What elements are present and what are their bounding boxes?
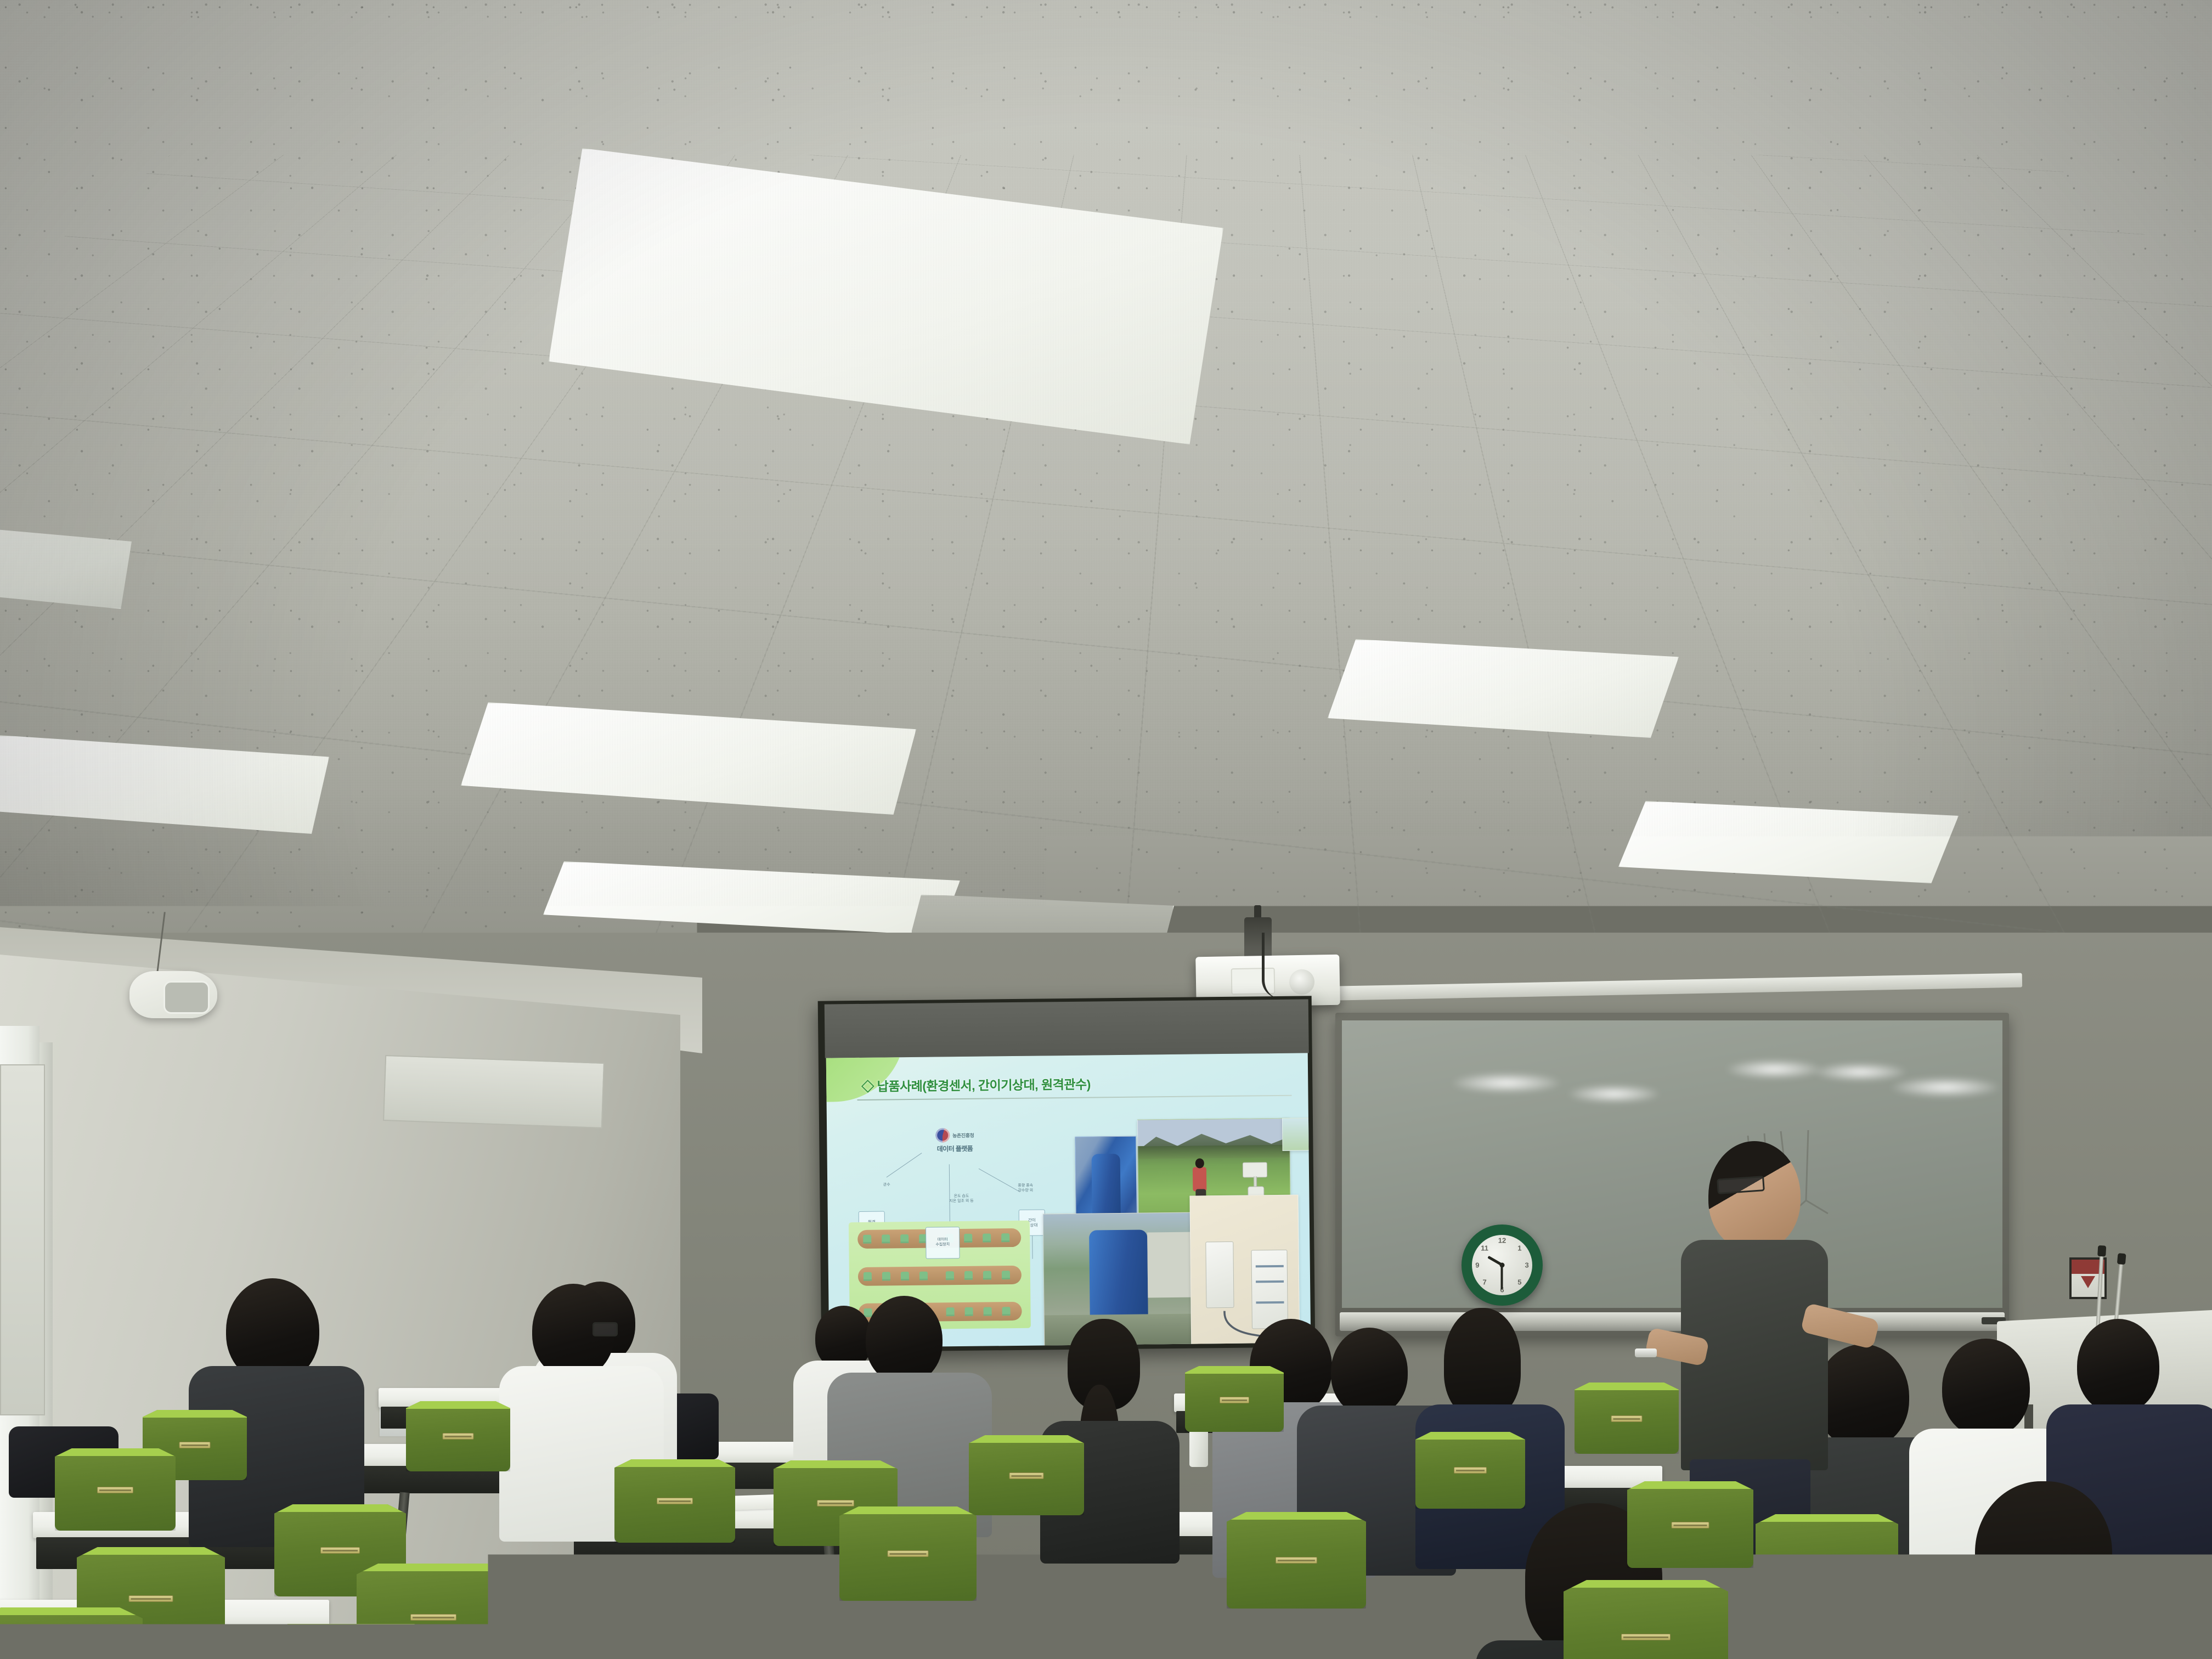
- chair-brand-label: [443, 1433, 474, 1440]
- chair-brand-label: [657, 1498, 693, 1504]
- chair-edge-trim: [55, 1448, 176, 1456]
- chair-brand-label: [129, 1595, 173, 1602]
- chair-edge-trim: [1627, 1481, 1753, 1489]
- diagram-label-center: 온도 습도지온 일조 외 등: [935, 1194, 988, 1204]
- diagram-box-collector: 데이터수집장치: [926, 1227, 960, 1259]
- chair-backrest: [406, 1401, 510, 1471]
- chair-backrest: [614, 1459, 735, 1543]
- chair-backrest: [839, 1506, 977, 1601]
- clock-numeral: 1: [1517, 1244, 1521, 1252]
- diagram-dropline-right: [1032, 1236, 1033, 1259]
- chair-edge-trim: [77, 1547, 225, 1555]
- chair-brand-label: [1805, 1560, 1848, 1567]
- chair-brand-label: [1009, 1472, 1044, 1479]
- clock-center-pin: [1500, 1263, 1505, 1268]
- diagram-label-right: 풍향 풍속강수량 외: [1008, 1183, 1042, 1193]
- chair-brand-label: [1220, 1397, 1249, 1403]
- glasses-icon: [1717, 1176, 1765, 1194]
- chair-edge-trim: [839, 1506, 977, 1514]
- head: [2077, 1319, 2159, 1413]
- chair-backrest: [0, 1607, 143, 1659]
- torso: [1920, 1613, 2178, 1659]
- chair-backrest: [1627, 1481, 1753, 1568]
- whiteboard-glare-5: [1891, 1077, 2000, 1097]
- whiteboard-surface: [1342, 1020, 2002, 1308]
- photo-enclosure-left: [1206, 1242, 1234, 1308]
- chair-brand-label: [1621, 1634, 1671, 1640]
- head: [866, 1296, 943, 1384]
- clock-numeral: 7: [1482, 1278, 1486, 1286]
- wall-clock: 12 1 3 5 6 7 9 11: [1462, 1224, 1543, 1306]
- chair[interactable]: [1415, 1432, 1525, 1509]
- chair[interactable]: [406, 1401, 510, 1471]
- logo-org-name: 농촌진흥청: [952, 1131, 974, 1138]
- chair-edge-trim: [1185, 1366, 1284, 1374]
- chair-brand-label: [97, 1487, 133, 1493]
- chair[interactable]: [614, 1459, 735, 1543]
- chair-edge-trim: [969, 1435, 1084, 1443]
- chair-edge-trim: [274, 1504, 406, 1512]
- chair-edge-trim: [614, 1459, 735, 1467]
- head: [1331, 1328, 1408, 1415]
- whiteboard: [1335, 1013, 2009, 1336]
- chair-backrest: [263, 1624, 439, 1659]
- chair-brand-label: [888, 1550, 929, 1557]
- clock-minute-hand: [1501, 1265, 1503, 1289]
- chair-brand-label: [179, 1442, 211, 1448]
- chair-backrest: [1415, 1432, 1525, 1509]
- photo-sensor-panel: [1243, 1162, 1267, 1177]
- chair-backrest: [1756, 1514, 1898, 1613]
- photo-mountains: [1138, 1131, 1289, 1150]
- whiteboard-tray: [1340, 1312, 2005, 1331]
- chair[interactable]: [969, 1435, 1084, 1515]
- window-blind-left: [0, 1064, 45, 1415]
- chair[interactable]: [642, 1567, 801, 1659]
- greenhouse-bed: [858, 1266, 1022, 1286]
- chair[interactable]: [0, 1607, 143, 1659]
- presenter-head: [1708, 1141, 1801, 1251]
- classroom-photo: 12 1 3 5 6 7 9 11 ◇ 납품사례(환경센서, 간이기상대, 원격…: [0, 0, 2212, 1659]
- chair-edge-trim: [357, 1564, 510, 1571]
- presentation-clicker: [1635, 1348, 1657, 1357]
- chair[interactable]: [1627, 1481, 1753, 1568]
- chair[interactable]: [1575, 1383, 1679, 1454]
- chair-edge-trim: [1756, 1514, 1898, 1522]
- chair-brand-label: [1672, 1522, 1709, 1528]
- photo-thumbnail-topright: [1282, 1118, 1311, 1151]
- clock-numeral: 5: [1517, 1278, 1521, 1286]
- wall-speaker: [129, 971, 217, 1018]
- chair-brand-label: [1276, 1557, 1317, 1564]
- window-blind-right: [383, 1055, 605, 1128]
- chair-edge-trim: [642, 1567, 801, 1575]
- chair[interactable]: [263, 1624, 439, 1659]
- chair[interactable]: [1185, 1366, 1284, 1432]
- chair[interactable]: [1092, 1570, 1251, 1659]
- chair-backrest: [1092, 1570, 1251, 1659]
- chair-brand-label: [698, 1618, 746, 1625]
- hair: [1444, 1308, 1521, 1418]
- chair-edge-trim: [1575, 1383, 1679, 1390]
- chair-edge-trim: [263, 1624, 439, 1632]
- chair[interactable]: [839, 1506, 977, 1601]
- chair-edge-trim: [143, 1410, 247, 1418]
- clock-numeral: 3: [1525, 1261, 1528, 1269]
- slide-title: ◇ 납품사례(환경센서, 간이기상대, 원격관수): [861, 1074, 1091, 1095]
- chair-backrest: [1564, 1580, 1728, 1659]
- chair-backrest: [642, 1567, 801, 1659]
- logo-platform-name: 데이터 플랫폼: [919, 1143, 990, 1153]
- down-arrow-icon: [2081, 1276, 2095, 1288]
- whiteboard-glare-3: [1726, 1060, 1822, 1079]
- clock-numeral: 9: [1475, 1261, 1479, 1269]
- chair-brand-label: [320, 1547, 360, 1554]
- chair-brand-label: [817, 1500, 854, 1506]
- chair-backrest: [969, 1435, 1084, 1515]
- slide-title-underline: [857, 1095, 1292, 1101]
- chair[interactable]: [55, 1448, 176, 1531]
- rda-emblem-icon: [935, 1128, 950, 1142]
- chair-backrest: [1575, 1383, 1679, 1454]
- chair-brand-label: [1148, 1622, 1195, 1628]
- clock-face: 12 1 3 5 6 7 9 11: [1472, 1235, 1532, 1295]
- whiteboard-glare-2: [1568, 1085, 1660, 1103]
- chair-brand-label: [1454, 1467, 1487, 1474]
- diagram-connector-left: [887, 1153, 922, 1177]
- whiteboard-glare-1: [1452, 1073, 1561, 1093]
- glasses-icon: [592, 1322, 618, 1336]
- projector-cable: [1262, 933, 1287, 998]
- head: [1942, 1339, 2030, 1437]
- chair-edge-trim: [1415, 1432, 1525, 1440]
- photo-person-torso: [1193, 1167, 1206, 1191]
- chair-edge-trim: [1227, 1512, 1366, 1520]
- chair[interactable]: [1564, 1580, 1728, 1659]
- diagram-label-left: 관수: [876, 1182, 898, 1188]
- chair-brand-label: [1611, 1415, 1643, 1422]
- clock-numeral: 12: [1498, 1236, 1506, 1244]
- whiteboard-glare-4: [1814, 1063, 1907, 1081]
- chair-edge-trim: [1564, 1580, 1728, 1588]
- chair-edge-trim: [1092, 1570, 1251, 1578]
- clock-numeral: 11: [1481, 1244, 1488, 1252]
- chair[interactable]: [1756, 1514, 1898, 1613]
- chair-edge-trim: [406, 1401, 510, 1409]
- chair-brand-label: [410, 1614, 456, 1621]
- head: [1816, 1344, 1909, 1448]
- hair: [1975, 1481, 2112, 1629]
- chair-backrest: [1185, 1366, 1284, 1432]
- screen-top-band: [825, 999, 1309, 1058]
- chair-edge-trim: [0, 1607, 143, 1615]
- slide-logo: 농촌진흥청 데이터 플랫폼: [919, 1127, 990, 1153]
- chair-edge-trim: [774, 1460, 898, 1468]
- chair-backrest: [55, 1448, 176, 1531]
